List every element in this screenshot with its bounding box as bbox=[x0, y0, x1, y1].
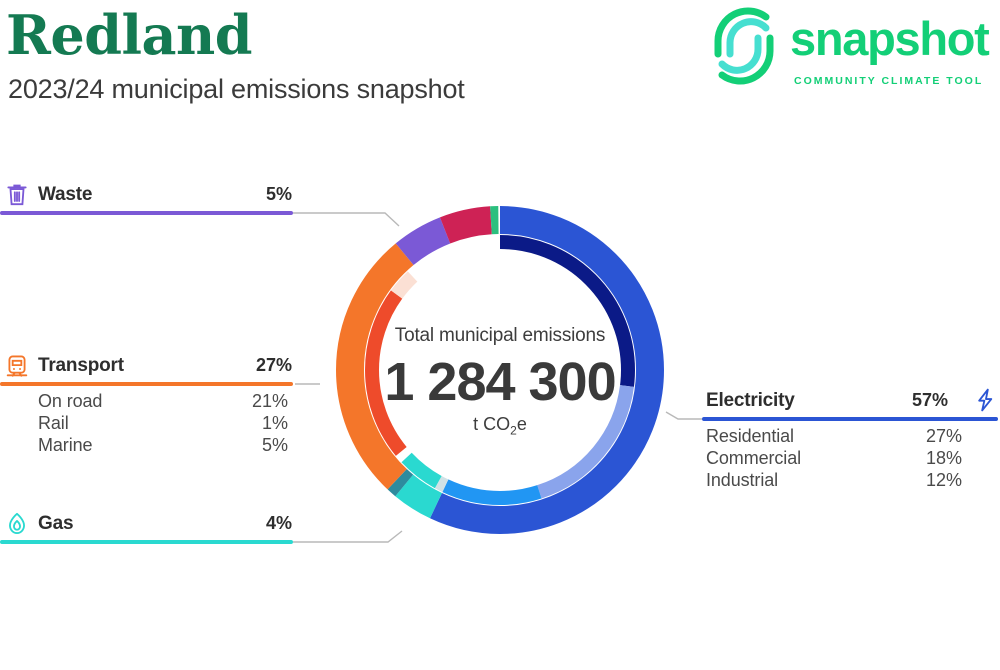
logo-wordmark: snapshot bbox=[790, 12, 989, 66]
donut-centre-total: Total municipal emissions 1 284 300 t CO… bbox=[355, 325, 645, 438]
list-item[interactable]: Residential 27% bbox=[702, 426, 998, 448]
sub-percent: 1% bbox=[262, 413, 288, 434]
legend-block-gas[interactable]: Gas 4% bbox=[0, 513, 300, 543]
list-item[interactable]: Industrial 12% bbox=[702, 470, 998, 492]
sub-percent: 21% bbox=[252, 391, 288, 412]
legend-block-transport[interactable]: Transport 27% On road 21% Rail 1% Marine… bbox=[0, 355, 300, 385]
list-item[interactable]: Rail 1% bbox=[0, 413, 300, 435]
centre-label: Total municipal emissions bbox=[355, 325, 645, 347]
legend-percent-waste: 5% bbox=[266, 184, 292, 205]
sub-percent: 5% bbox=[262, 435, 288, 456]
centre-unit-subscript: 2 bbox=[510, 424, 517, 438]
legend-label-transport: Transport bbox=[38, 355, 124, 377]
legend-label-waste: Waste bbox=[38, 184, 92, 206]
legend-percent-transport: 27% bbox=[256, 355, 292, 376]
legend-bar-transport bbox=[0, 382, 293, 386]
legend-block-waste[interactable]: Waste 5% bbox=[0, 184, 300, 214]
page-title: Redland bbox=[6, 4, 252, 66]
list-item[interactable]: On road 21% bbox=[0, 391, 300, 413]
centre-unit-suffix: e bbox=[517, 414, 527, 434]
legend-label-electricity: Electricity bbox=[706, 390, 795, 412]
legend-percent-electricity: 57% bbox=[912, 390, 948, 411]
legend-bar-electricity bbox=[702, 417, 998, 421]
sub-label: On road bbox=[38, 391, 102, 412]
list-item[interactable]: Commercial 18% bbox=[702, 448, 998, 470]
legend-bar-waste bbox=[0, 211, 293, 215]
sub-percent: 12% bbox=[926, 470, 962, 491]
trash-bin-icon bbox=[4, 182, 30, 208]
flame-icon bbox=[4, 511, 30, 537]
sub-label: Commercial bbox=[706, 448, 801, 469]
legend-sublist-transport: On road 21% Rail 1% Marine 5% bbox=[0, 391, 300, 457]
centre-unit-prefix: t CO bbox=[473, 414, 510, 434]
sub-percent: 18% bbox=[926, 448, 962, 469]
infographic-canvas: Redland 2023/24 municipal emissions snap… bbox=[0, 0, 1000, 670]
snapshot-swirl-icon bbox=[706, 8, 782, 84]
sub-label: Industrial bbox=[706, 470, 778, 491]
sub-percent: 27% bbox=[926, 426, 962, 447]
legend-head-waste: Waste 5% bbox=[0, 184, 300, 214]
legend-block-electricity[interactable]: Electricity 57% Residential 27% Commerci… bbox=[702, 390, 998, 420]
sub-label: Marine bbox=[38, 435, 92, 456]
centre-unit: t CO2e bbox=[355, 414, 645, 438]
list-item[interactable]: Marine 5% bbox=[0, 435, 300, 457]
legend-head-transport: Transport 27% bbox=[0, 355, 300, 385]
sub-label: Rail bbox=[38, 413, 69, 434]
legend-bar-gas bbox=[0, 540, 293, 544]
legend-head-gas: Gas 4% bbox=[0, 513, 300, 543]
legend-percent-gas: 4% bbox=[266, 513, 292, 534]
snapshot-logo: snapshot COMMUNITY CLIMATE TOOL bbox=[706, 4, 1000, 88]
page-subtitle: 2023/24 municipal emissions snapshot bbox=[8, 72, 465, 106]
sub-label: Residential bbox=[706, 426, 794, 447]
centre-value: 1 284 300 bbox=[355, 351, 645, 413]
legend-label-gas: Gas bbox=[38, 513, 73, 535]
lightning-bolt-icon bbox=[972, 387, 998, 413]
logo-tagline: COMMUNITY CLIMATE TOOL bbox=[794, 75, 983, 87]
train-icon bbox=[4, 353, 30, 379]
legend-sublist-electricity: Residential 27% Commercial 18% Industria… bbox=[702, 426, 998, 492]
legend-head-electricity: Electricity 57% bbox=[702, 390, 998, 420]
